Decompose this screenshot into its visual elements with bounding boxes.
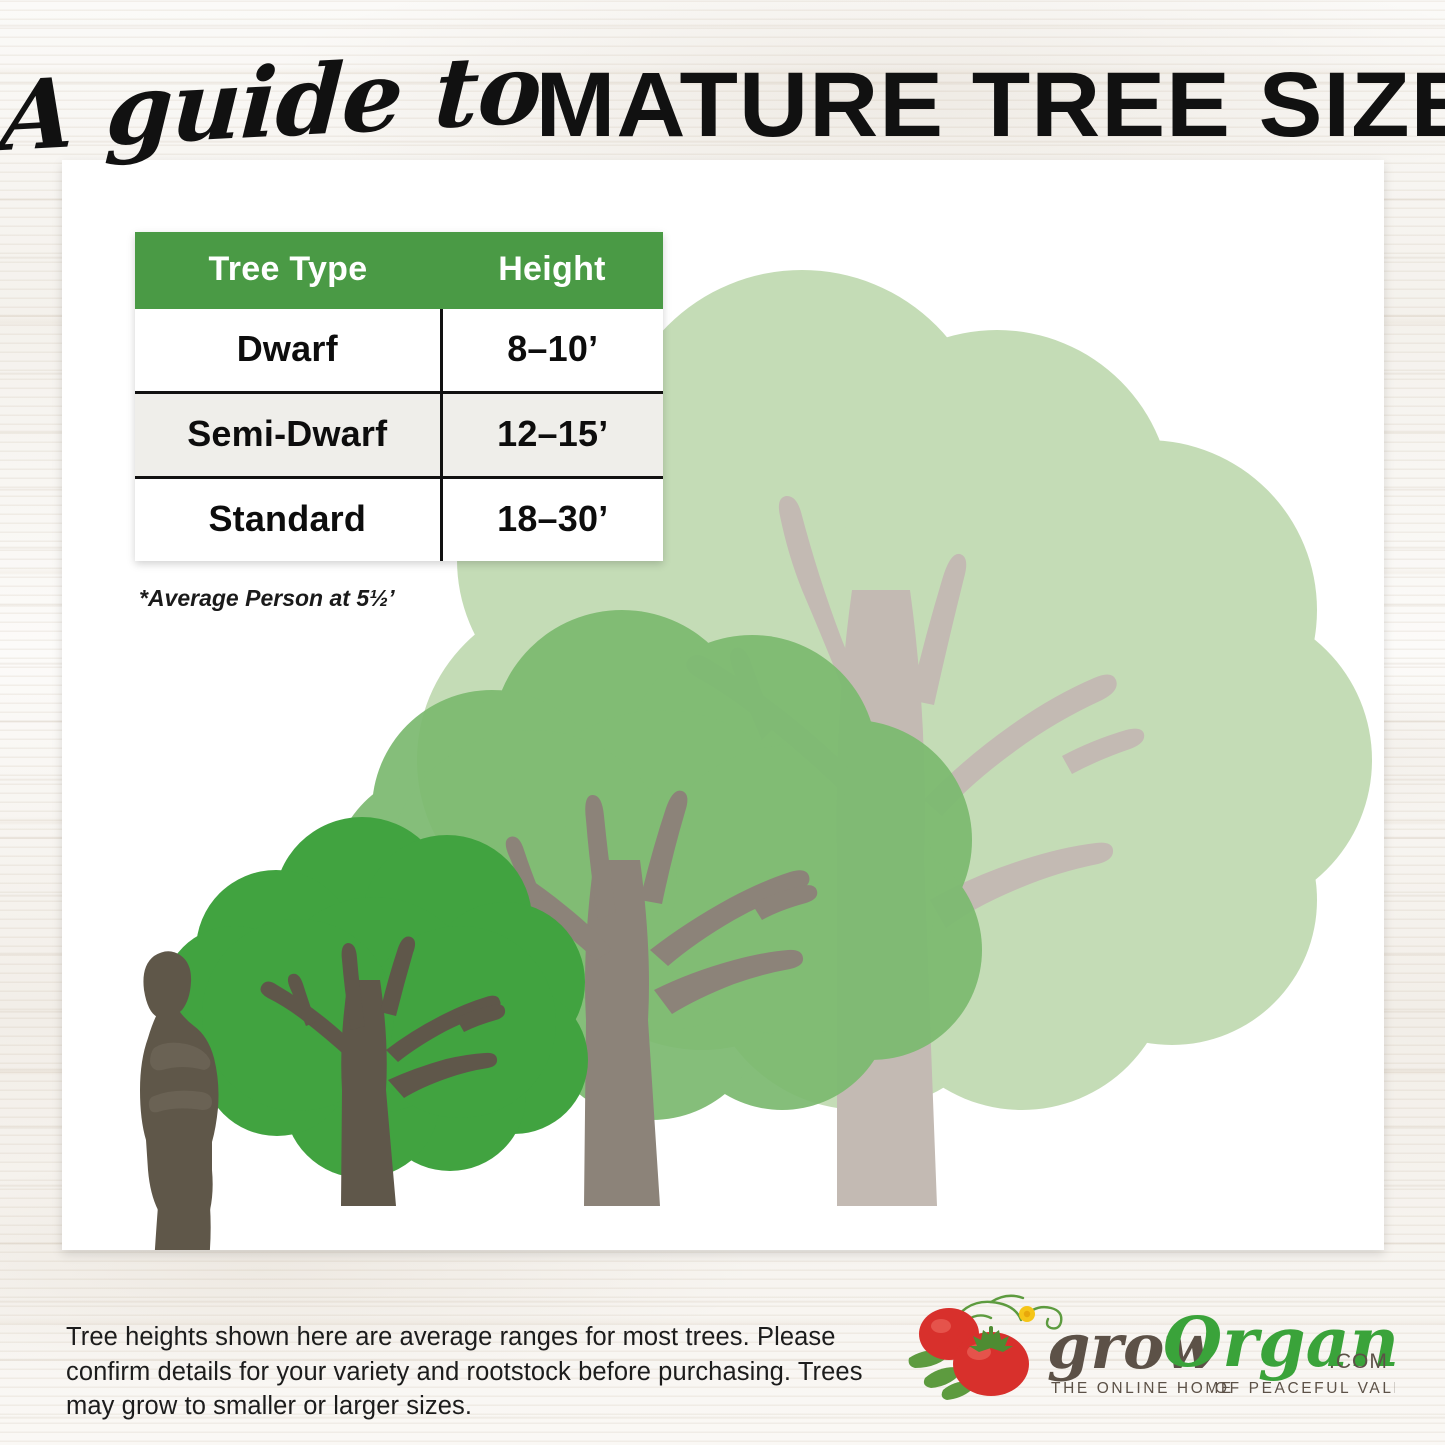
title-script-part: A guide to bbox=[0, 32, 544, 174]
footer-disclaimer: Tree heights shown here are average rang… bbox=[66, 1320, 876, 1424]
tree-size-table: Tree Type Height Dwarf 8–10’ Semi-Dwarf … bbox=[135, 232, 663, 561]
page-title: A guide toMATURE TREE SIZES bbox=[0, 46, 1445, 159]
infographic-panel: Tree Type Height Dwarf 8–10’ Semi-Dwarf … bbox=[62, 160, 1384, 1250]
cell-height: 12–15’ bbox=[441, 393, 663, 478]
cell-height: 8–10’ bbox=[441, 309, 663, 393]
logo-word-com: .COM bbox=[1329, 1350, 1388, 1373]
cell-height: 18–30’ bbox=[441, 478, 663, 562]
grow-organic-logo[interactable]: grow Organic .COM THE ONLINE HOME OF PEA… bbox=[895, 1290, 1395, 1410]
logo-tagline-left: THE ONLINE HOME bbox=[1051, 1380, 1234, 1397]
title-block-part: MATURE TREE SIZES bbox=[536, 53, 1445, 158]
column-header-height: Height bbox=[441, 232, 663, 309]
table-header-row: Tree Type Height bbox=[135, 232, 663, 309]
cell-tree-type: Semi-Dwarf bbox=[135, 393, 441, 478]
flower-icon bbox=[1019, 1306, 1035, 1322]
cell-tree-type: Standard bbox=[135, 478, 441, 562]
column-header-tree-type: Tree Type bbox=[135, 232, 441, 309]
cell-tree-type: Dwarf bbox=[135, 309, 441, 393]
table-row: Semi-Dwarf 12–15’ bbox=[135, 393, 663, 478]
table-row: Dwarf 8–10’ bbox=[135, 309, 663, 393]
logo-tagline-right: OF PEACEFUL VALLEY bbox=[1215, 1380, 1395, 1397]
footer: Tree heights shown here are average rang… bbox=[0, 1258, 1445, 1438]
table-footnote: *Average Person at 5½’ bbox=[139, 585, 395, 612]
table-row: Standard 18–30’ bbox=[135, 478, 663, 562]
